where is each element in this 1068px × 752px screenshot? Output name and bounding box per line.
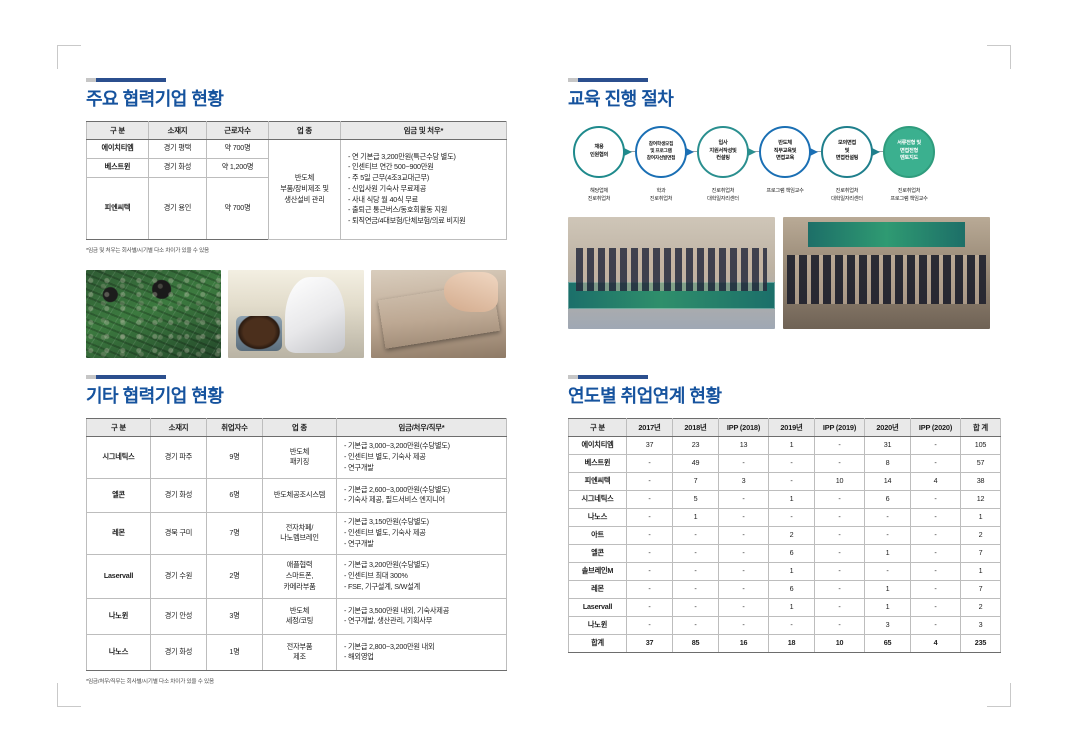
cell-company-name: 에이치티엠 — [569, 436, 627, 454]
benefit-line: - 사내 식당 월 40식 무료 — [348, 195, 504, 206]
cell-value: - — [719, 490, 769, 508]
cell-company-name: 엘콘 — [569, 544, 627, 562]
term-line: - 기본급 3,150만원(수당별도) — [344, 517, 504, 528]
table-body: 에이치티엠3723131-31-105베스트윈-49---8-57피엔씨텍-73… — [569, 436, 1001, 652]
cell-value: 4 — [911, 472, 961, 490]
cell-industry: 전자차폐/ 나노멤브레인 — [263, 512, 337, 554]
cell-value: - — [673, 562, 719, 580]
term-line: - 기본급 3,200만원(수당별도) — [344, 560, 504, 571]
cell-value: - — [719, 508, 769, 526]
term-line: - FSE, 기구설계, S/W설계 — [344, 582, 504, 593]
cell-hires: 7명 — [207, 512, 263, 554]
cell-value: 18 — [769, 634, 815, 652]
cell-workers: 약 1,200명 — [207, 158, 269, 177]
table-row: 시그네틱스-5-1-6-12 — [569, 490, 1001, 508]
benefit-line: - 인센티브 연간 500~900만원 — [348, 162, 504, 173]
table-footnote: *임금/처우/직무는 회사별/시기별 다소 차이가 있을 수 있음 — [86, 677, 506, 685]
cell-hires: 9명 — [207, 436, 263, 478]
cell-value: - — [815, 562, 865, 580]
term-line: - 해외영업 — [344, 652, 504, 663]
photo-strip-education — [568, 217, 990, 329]
cell-company-name: 베스트윈 — [569, 454, 627, 472]
cell-value: 1 — [865, 598, 911, 616]
cell-value: 2 — [769, 526, 815, 544]
cell-value: 13 — [719, 436, 769, 454]
cell-value: - — [627, 490, 673, 508]
cell-value: - — [865, 526, 911, 544]
cell-value: - — [911, 580, 961, 598]
cell-terms: - 기본급 2,800~3,200만원 내외 - 해외영업 — [337, 634, 507, 670]
cell-industry: 반도체공조시스템 — [263, 478, 337, 512]
col-header-합계: 합 계 — [961, 418, 1001, 436]
col-header-workers: 근로자수 — [207, 121, 269, 139]
cell-value: - — [911, 544, 961, 562]
cell-value: - — [673, 526, 719, 544]
cell-value: - — [769, 508, 815, 526]
cell-value: 16 — [719, 634, 769, 652]
cell-company-name: 레몬 — [569, 580, 627, 598]
cell-value: 23 — [673, 436, 719, 454]
cell-value: - — [719, 454, 769, 472]
cell-company-name: 에이치티엠 — [87, 139, 149, 158]
table-row: 솔브레인M---1---1 — [569, 562, 1001, 580]
cell-value: - — [815, 544, 865, 562]
cell-location: 경기 화성 — [151, 634, 207, 670]
cell-terms: - 기본급 3,150만원(수당별도) - 인센티브 별도, 기숙사 제공 - … — [337, 512, 507, 554]
cell-value: - — [911, 616, 961, 634]
term-line: - 인센티브 별도, 기숙사 제공 — [344, 452, 504, 463]
table-row: Laservall---1-1-2 — [569, 598, 1001, 616]
col-header-terms: 임금/처우/직무* — [337, 418, 507, 436]
cell-company-name: 시그네틱스 — [569, 490, 627, 508]
cell-value: 2 — [961, 598, 1001, 616]
cell-hires: 3명 — [207, 598, 263, 634]
cell-value: - — [719, 580, 769, 598]
page-title-employment-by-year: 연도별 취업연계 현황 — [568, 386, 990, 407]
cell-value: 49 — [673, 454, 719, 472]
cell-company-name: 솔브레인M — [569, 562, 627, 580]
cell-value: - — [627, 580, 673, 598]
table-total-row: 합계3785161810654235 — [569, 634, 1001, 652]
field-training-group-photo — [568, 217, 775, 329]
table-row: 레몬 경북 구미 7명 전자차폐/ 나노멤브레인 - 기본급 3,150만원(수… — [87, 512, 507, 554]
cell-location: 경기 수원 — [151, 554, 207, 598]
col-header-benefits: 임금 및 처우* — [341, 121, 507, 139]
table-row: 피엔씨텍-73-1014438 — [569, 472, 1001, 490]
cell-value: 1 — [769, 436, 815, 454]
table-row: 베스트윈-49---8-57 — [569, 454, 1001, 472]
term-line: - 기본급 3,000~3,200만원(수당별도) — [344, 441, 504, 452]
cell-location: 경기 화성 — [151, 478, 207, 512]
table-header-row: 구 분 소재지 취업자수 업 종 임금/처우/직무* — [87, 418, 507, 436]
term-line: - 연구개발 — [344, 463, 504, 474]
flow-circle-label: 반도체 직무교육및 면접교육 — [759, 126, 811, 178]
cell-value: 105 — [961, 436, 1001, 454]
cell-value: - — [769, 454, 815, 472]
cell-company-name: 시그네틱스 — [87, 436, 151, 478]
flow-step-6: 서류전형 및 면접전형 멘토지도 진로취업처 프로그램 책임교수 — [878, 126, 940, 203]
cell-benefits: - 연 기본급 3,200만원(특근수당 별도) - 인센티브 연간 500~9… — [341, 139, 507, 239]
col-header-location: 소재지 — [149, 121, 207, 139]
cell-value: - — [673, 598, 719, 616]
cell-value: - — [815, 508, 865, 526]
col-header-division: 구 분 — [87, 121, 149, 139]
col-header-2018년: 2018년 — [673, 418, 719, 436]
benefit-line: - 연 기본급 3,200만원(특근수당 별도) — [348, 152, 504, 163]
cell-value: 6 — [769, 580, 815, 598]
section-partners-main: 주요 협력기업 현황 구 분 소재지 근로자수 업 종 임금 및 처우* 에이치… — [86, 78, 506, 358]
cell-value: - — [719, 616, 769, 634]
col-header-industry: 업 종 — [263, 418, 337, 436]
cell-location: 경북 구미 — [151, 512, 207, 554]
crop-mark-top-right — [987, 45, 1011, 69]
flow-step-4: 반도체 직무교육및 면접교육 프로그램 책임교수 — [754, 126, 816, 195]
cell-value: 57 — [961, 454, 1001, 472]
cell-value: 1 — [865, 580, 911, 598]
cell-value: 14 — [865, 472, 911, 490]
section-employment-by-year: 연도별 취업연계 현황 구 분2017년2018년IPP (2018)2019년… — [568, 375, 990, 653]
table-row: 레몬---6-1-7 — [569, 580, 1001, 598]
table-row: 아트---2---2 — [569, 526, 1001, 544]
page-title-partners-main: 주요 협력기업 현황 — [86, 89, 506, 110]
cell-company-name: 나노윈 — [87, 598, 151, 634]
cell-terms: - 기본급 3,000~3,200만원(수당별도) - 인센티브 별도, 기숙사… — [337, 436, 507, 478]
cell-company-name: 나노스 — [569, 508, 627, 526]
cell-value: - — [627, 562, 673, 580]
cell-company-name: 아트 — [569, 526, 627, 544]
table-row: Laservall 경기 수원 2명 애플협력 스마트폰, 카메라부품 - 기본… — [87, 554, 507, 598]
cell-value: 4 — [911, 634, 961, 652]
cell-value: - — [911, 562, 961, 580]
cell-value: 38 — [961, 472, 1001, 490]
cell-value: - — [719, 598, 769, 616]
table-row: 에이치티엠3723131-31-105 — [569, 436, 1001, 454]
cell-value: 2 — [961, 526, 1001, 544]
flow-step-3: 입사 지원서작성및 컨설팅 진로취업처 대학일자리센터 — [692, 126, 754, 203]
cell-value: - — [627, 598, 673, 616]
cell-industry: 반도체 세정/코팅 — [263, 598, 337, 634]
cell-value: 1 — [673, 508, 719, 526]
cell-value: - — [815, 616, 865, 634]
cell-location: 경기 용인 — [149, 177, 207, 239]
cell-value: - — [627, 508, 673, 526]
flow-caption: 진로취업처 대학일자리센터 — [831, 187, 863, 203]
table-header-row: 구 분 소재지 근로자수 업 종 임금 및 처우* — [87, 121, 507, 139]
accent-bar — [86, 375, 166, 379]
cell-value: 3 — [719, 472, 769, 490]
cell-value: - — [815, 598, 865, 616]
cell-value: - — [769, 472, 815, 490]
cell-value: - — [627, 616, 673, 634]
col-header-2019년: 2019년 — [769, 418, 815, 436]
process-flow-diagram: 채용 인원협의 해당업체 진로취업처 참여학생모집 및 프로그램 참여자선발면접… — [568, 126, 990, 203]
cell-industry: 반도체 부품/장비제조 및 생산설비 관리 — [269, 139, 341, 239]
photo-strip-semiconductor — [86, 270, 506, 358]
flow-step-5: 모의면접 및 면접컨설팅 진로취업처 대학일자리센터 — [816, 126, 878, 203]
term-line: - 기본급 3,500만원 내외, 기숙사제공 — [344, 606, 504, 617]
cell-company-name: 베스트윈 — [87, 158, 149, 177]
cell-value: - — [815, 580, 865, 598]
benefit-line: - 출퇴근 통근버스/동호회활동 지원 — [348, 205, 504, 216]
flow-circle-label: 참여학생모집 및 프로그램 참여자선발면접 — [635, 126, 687, 178]
cell-value: 37 — [627, 436, 673, 454]
cleanroom-worker-photo — [228, 270, 363, 358]
cell-value: - — [911, 454, 961, 472]
cell-value: 37 — [627, 634, 673, 652]
cell-company-name: 나노윈 — [569, 616, 627, 634]
cell-company-name: 엘콘 — [87, 478, 151, 512]
cell-value: - — [865, 562, 911, 580]
col-header-ipp2020: IPP (2020) — [911, 418, 961, 436]
cell-value: 7 — [961, 544, 1001, 562]
flow-circle-label: 채용 인원협의 — [573, 126, 625, 178]
crop-mark-bottom-left — [57, 683, 81, 707]
accent-bar — [568, 375, 648, 379]
flow-caption: 학과 진로취업처 — [650, 187, 673, 203]
cell-company-name: Laservall — [569, 598, 627, 616]
pcb-closeup-photo — [86, 270, 221, 358]
cell-industry: 애플협력 스마트폰, 카메라부품 — [263, 554, 337, 598]
term-line: - 기본급 2,800~3,200만원 내외 — [344, 642, 504, 653]
cell-location: 경기 평택 — [149, 139, 207, 158]
cell-value: - — [815, 490, 865, 508]
cell-workers: 약 700명 — [207, 139, 269, 158]
cell-location: 경기 안성 — [151, 598, 207, 634]
cell-value: 5 — [673, 490, 719, 508]
benefit-line: - 주 5일 근무(4조3교대근무) — [348, 173, 504, 184]
cell-value: 6 — [865, 490, 911, 508]
cell-value: 65 — [865, 634, 911, 652]
cell-value: 1 — [961, 508, 1001, 526]
cell-industry: 전자부품 제조 — [263, 634, 337, 670]
cell-value: - — [673, 544, 719, 562]
cell-company-name: 나노스 — [87, 634, 151, 670]
term-line: - 인센티브 최대 300% — [344, 571, 504, 582]
silicon-wafer-photo — [371, 270, 506, 358]
cell-value: - — [719, 526, 769, 544]
cell-value: 85 — [673, 634, 719, 652]
cell-value: - — [719, 544, 769, 562]
cell-value: 1 — [865, 544, 911, 562]
cell-value: - — [865, 508, 911, 526]
accent-bar — [568, 78, 648, 82]
table-row: 나노윈 경기 안성 3명 반도체 세정/코팅 - 기본급 3,500만원 내외,… — [87, 598, 507, 634]
cell-value: 1 — [961, 562, 1001, 580]
cell-value: - — [627, 544, 673, 562]
table-footnote: *임금 및 처우는 회사별/시기별 다소 차이가 있을 수 있음 — [86, 246, 506, 254]
col-header-2020년: 2020년 — [865, 418, 911, 436]
cell-value: 1 — [769, 490, 815, 508]
flow-step-1: 채용 인원협의 해당업체 진로취업처 — [568, 126, 630, 203]
cell-value: - — [815, 436, 865, 454]
employment-by-year-table: 구 분2017년2018년IPP (2018)2019년IPP (2019)20… — [568, 418, 1001, 653]
flow-step-2: 참여학생모집 및 프로그램 참여자선발면접 학과 진로취업처 — [630, 126, 692, 203]
cell-value: 1 — [769, 562, 815, 580]
col-header-industry: 업 종 — [269, 121, 341, 139]
table-header-row: 구 분2017년2018년IPP (2018)2019년IPP (2019)20… — [569, 418, 1001, 436]
col-header-division: 구 분 — [569, 418, 627, 436]
table-row: 엘콘 경기 화성 6명 반도체공조시스템 - 기본급 2,600~3,000만원… — [87, 478, 507, 512]
benefit-line: - 신입사원 기숙사 무료제공 — [348, 184, 504, 195]
section-partners-other: 기타 협력기업 현황 구 분 소재지 취업자수 업 종 임금/처우/직무* 시그… — [86, 375, 506, 685]
flow-caption: 프로그램 책임교수 — [766, 187, 803, 195]
cell-company-name: 합계 — [569, 634, 627, 652]
cell-value: - — [673, 580, 719, 598]
cell-value: 31 — [865, 436, 911, 454]
col-header-2017년: 2017년 — [627, 418, 673, 436]
col-header-ipp2018: IPP (2018) — [719, 418, 769, 436]
accent-bar — [86, 78, 166, 82]
cell-value: 3 — [865, 616, 911, 634]
flow-circle-label: 서류전형 및 면접전형 멘토지도 — [883, 126, 935, 178]
col-header-hires: 취업자수 — [207, 418, 263, 436]
cell-hires: 1명 — [207, 634, 263, 670]
cell-location: 경기 파주 — [151, 436, 207, 478]
col-header-division: 구 분 — [87, 418, 151, 436]
cell-terms: - 기본급 3,200만원(수당별도) - 인센티브 최대 300% - FSE… — [337, 554, 507, 598]
flow-circle-label: 모의면접 및 면접컨설팅 — [821, 126, 873, 178]
flow-caption: 진로취업처 프로그램 책임교수 — [890, 187, 927, 203]
cell-value: - — [911, 508, 961, 526]
brochure-page: 주요 협력기업 현황 구 분 소재지 근로자수 업 종 임금 및 처우* 에이치… — [0, 0, 1068, 752]
benefit-line: - 퇴직연금/4대보험/단체보험/의료 비지원 — [348, 216, 504, 227]
page-title-partners-other: 기타 협력기업 현황 — [86, 386, 506, 407]
partners-main-table: 구 분 소재지 근로자수 업 종 임금 및 처우* 에이치티엠 경기 평택 약 … — [86, 121, 507, 240]
cell-value: 7 — [673, 472, 719, 490]
cell-hires: 2명 — [207, 554, 263, 598]
cell-value: - — [673, 616, 719, 634]
section-education-flow: 교육 진행 절차 채용 인원협의 해당업체 진로취업처 참여학생모집 및 프로그… — [568, 78, 990, 329]
cell-workers: 약 700명 — [207, 177, 269, 239]
cell-hires: 6명 — [207, 478, 263, 512]
cell-value: 3 — [961, 616, 1001, 634]
cell-value: - — [815, 526, 865, 544]
cell-value: - — [815, 454, 865, 472]
term-line: - 기본급 2,600~3,000만원(수당별도) — [344, 485, 504, 496]
cell-value: 12 — [961, 490, 1001, 508]
cell-value: - — [911, 490, 961, 508]
cell-value: 235 — [961, 634, 1001, 652]
cell-company-name: 피엔씨텍 — [87, 177, 149, 239]
cell-value: - — [627, 472, 673, 490]
cell-value: 6 — [769, 544, 815, 562]
term-line: - 인센티브 별도, 기숙사 제공 — [344, 528, 504, 539]
cell-value: 8 — [865, 454, 911, 472]
cell-value: - — [719, 562, 769, 580]
term-line: - 연구개발 — [344, 539, 504, 550]
cell-company-name: Laservall — [87, 554, 151, 598]
cell-terms: - 기본급 2,600~3,000만원(수당별도) - 기숙사 제공, 필드서비… — [337, 478, 507, 512]
partners-other-table: 구 분 소재지 취업자수 업 종 임금/처우/직무* 시그네틱스 경기 파주 9… — [86, 418, 507, 671]
crop-mark-top-left — [57, 45, 81, 69]
table-row: 엘콘---6-1-7 — [569, 544, 1001, 562]
cell-company-name: 피엔씨텍 — [569, 472, 627, 490]
table-row: 나노윈-----3-3 — [569, 616, 1001, 634]
cell-company-name: 레몬 — [87, 512, 151, 554]
table-row: 시그네틱스 경기 파주 9명 반도체 패키징 - 기본급 3,000~3,200… — [87, 436, 507, 478]
cell-value: 10 — [815, 634, 865, 652]
col-header-location: 소재지 — [151, 418, 207, 436]
table-row: 나노스-1-----1 — [569, 508, 1001, 526]
flow-caption: 진로취업처 대학일자리센터 — [707, 187, 739, 203]
cell-value: - — [769, 616, 815, 634]
crop-mark-bottom-right — [987, 683, 1011, 707]
flow-caption: 해당업체 진로취업처 — [588, 187, 611, 203]
cell-industry: 반도체 패키징 — [263, 436, 337, 478]
term-line: - 연구개발, 생산관리, 기획사무 — [344, 616, 504, 627]
page-title-education-flow: 교육 진행 절차 — [568, 89, 990, 110]
cell-terms: - 기본급 3,500만원 내외, 기숙사제공 - 연구개발, 생산관리, 기획… — [337, 598, 507, 634]
col-header-ipp2019: IPP (2019) — [815, 418, 865, 436]
cell-location: 경기 화성 — [149, 158, 207, 177]
cell-value: - — [627, 526, 673, 544]
table-row: 나노스 경기 화성 1명 전자부품 제조 - 기본급 2,800~3,200만원… — [87, 634, 507, 670]
flow-circle-label: 입사 지원서작성및 컨설팅 — [697, 126, 749, 178]
cell-value: 1 — [769, 598, 815, 616]
results-briefing-group-photo — [783, 217, 990, 329]
cell-value: - — [911, 436, 961, 454]
cell-value: - — [627, 454, 673, 472]
cell-value: 10 — [815, 472, 865, 490]
term-line: - 기숙사 제공, 필드서비스 엔지니어 — [344, 495, 504, 506]
cell-value: - — [911, 526, 961, 544]
cell-value: - — [911, 598, 961, 616]
cell-value: 7 — [961, 580, 1001, 598]
table-row: 에이치티엠 경기 평택 약 700명 반도체 부품/장비제조 및 생산설비 관리… — [87, 139, 507, 158]
